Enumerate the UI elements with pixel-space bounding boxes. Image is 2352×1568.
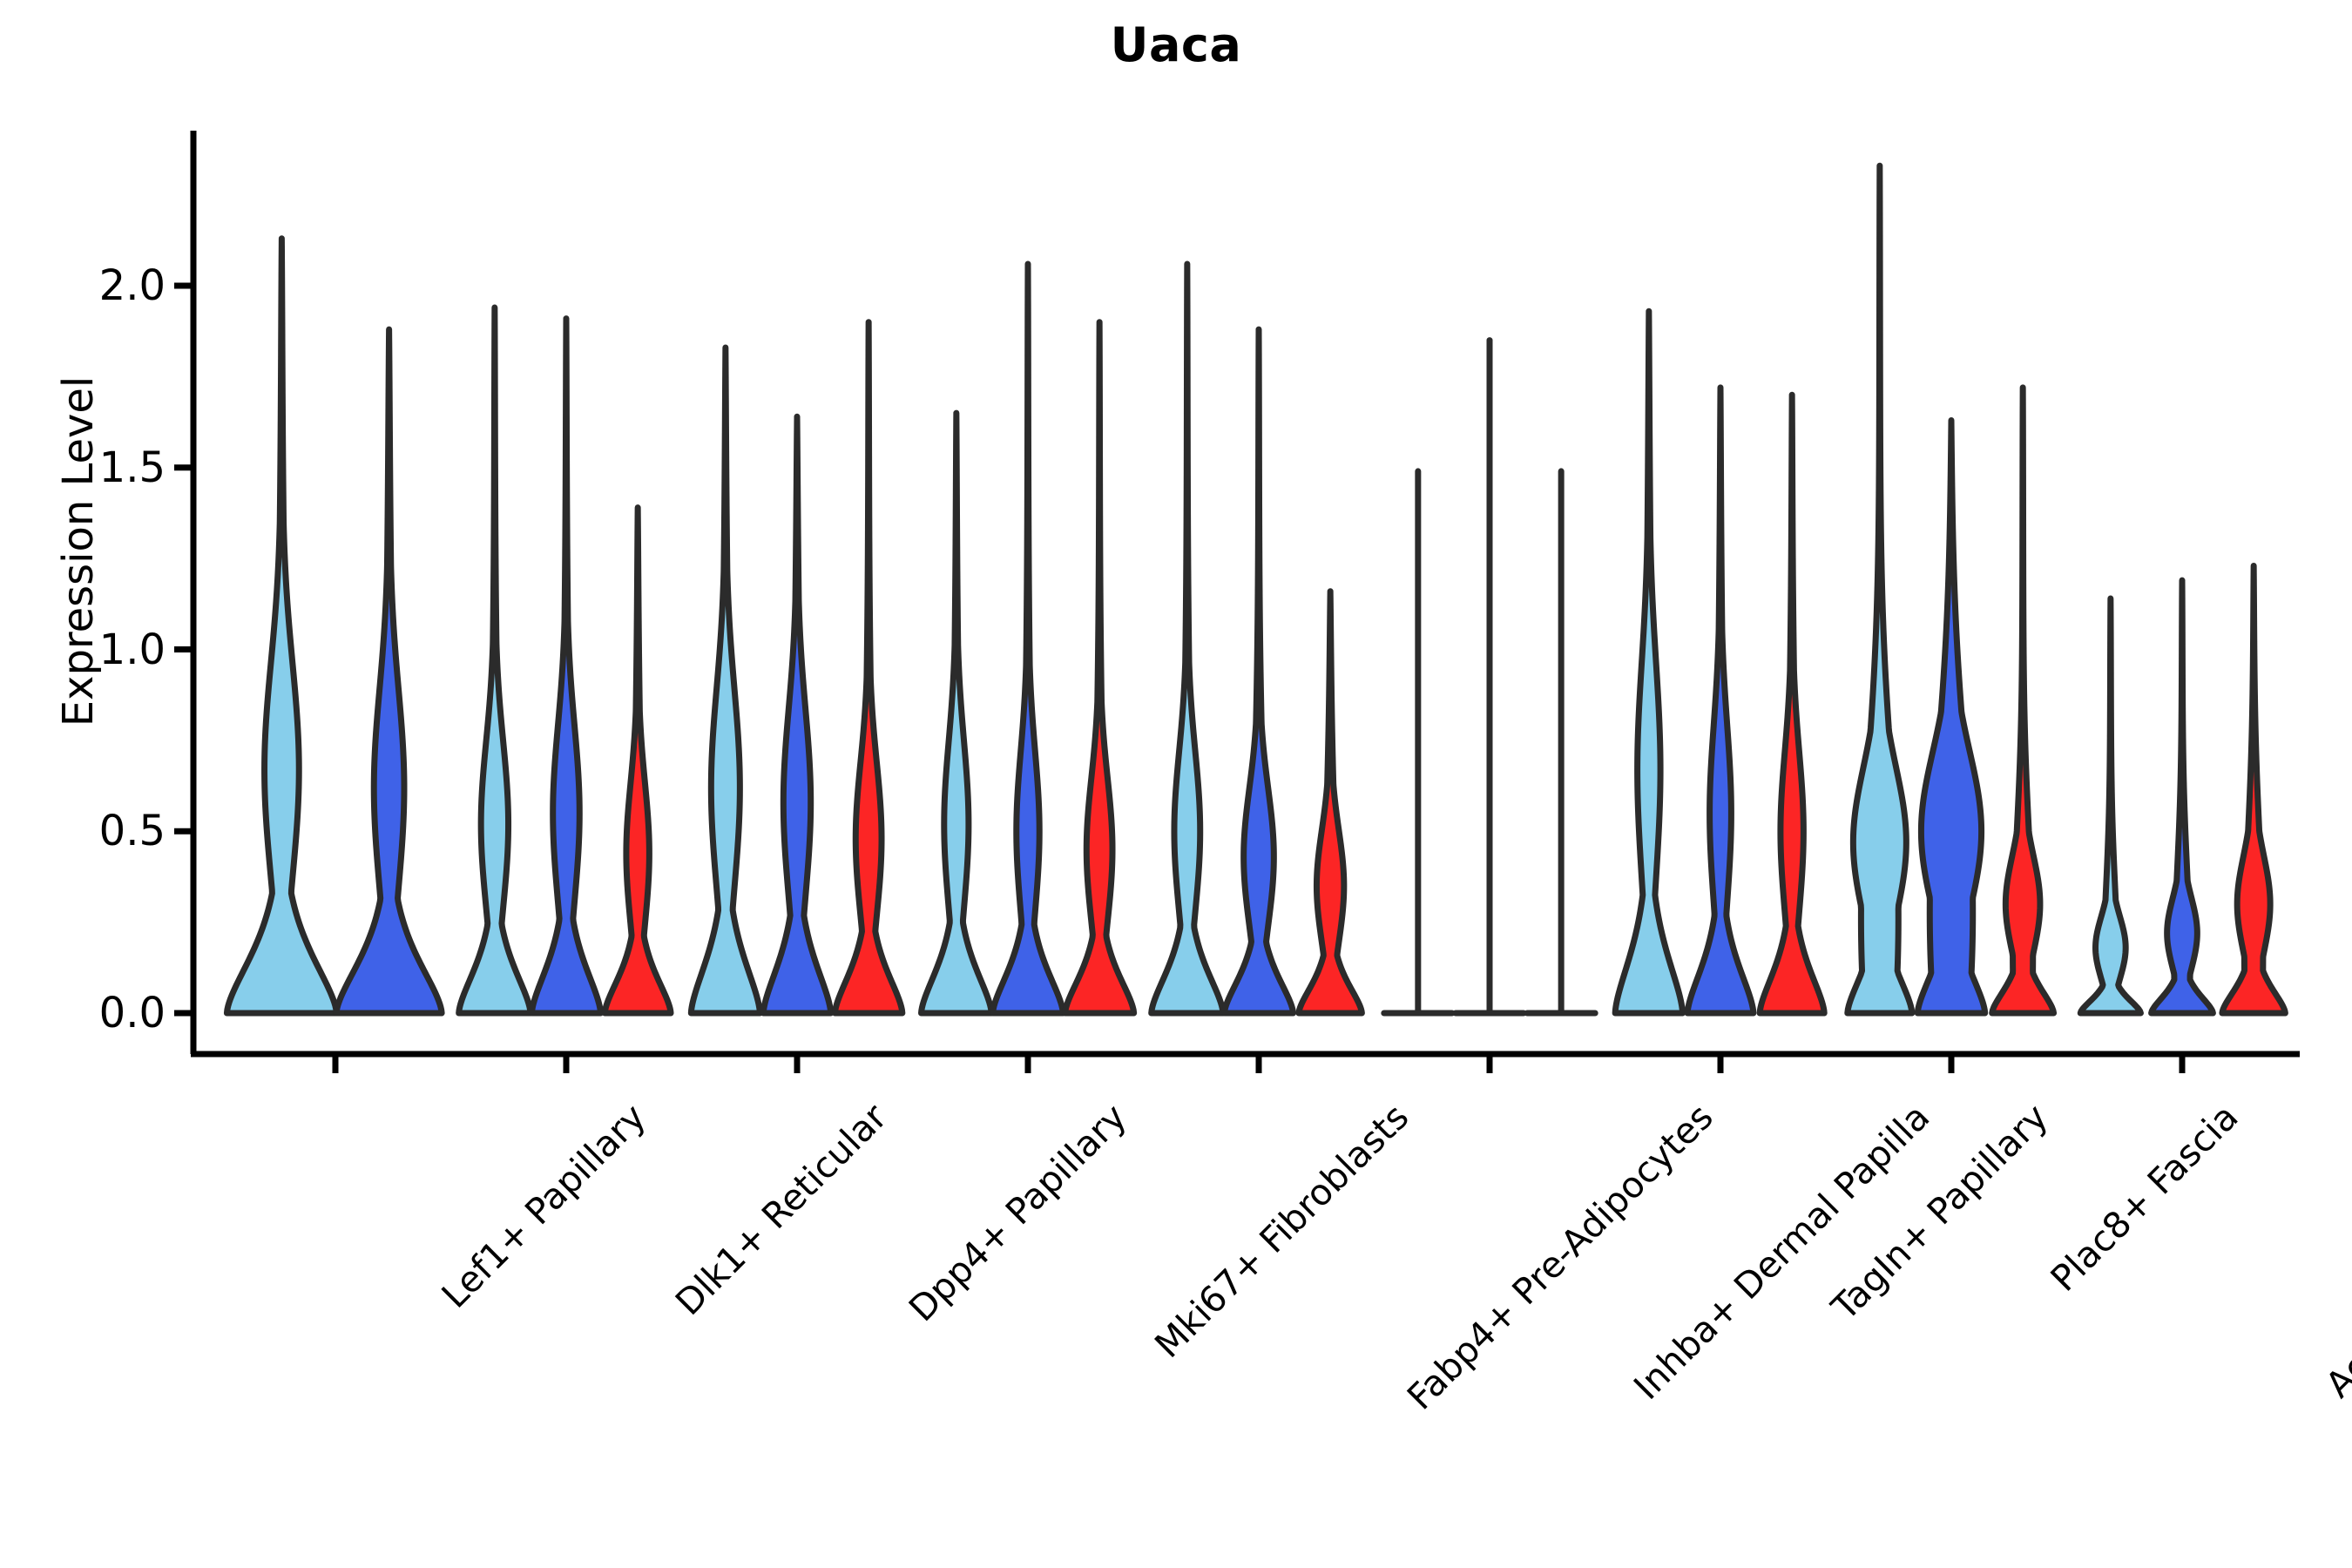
violin-group — [1848, 166, 2054, 1013]
violin-shape — [993, 264, 1064, 1013]
violin-group — [1152, 264, 1362, 1013]
violin-shape — [1917, 420, 1984, 1013]
violin-shape — [1687, 388, 1754, 1013]
violin-shape — [531, 319, 600, 1013]
violin-shape — [1224, 329, 1293, 1013]
violin-group — [226, 239, 442, 1013]
violin-group — [2080, 565, 2285, 1013]
violin-shape — [763, 416, 830, 1013]
violin-shape — [691, 348, 760, 1013]
violin-shape — [1848, 166, 1912, 1013]
violin-shape — [1760, 395, 1824, 1013]
violin-shape — [2080, 598, 2140, 1013]
violin-plot-figure: Uaca Expression Level 0.00.51.01.52.0 Le… — [0, 0, 2352, 1568]
violin-shape — [226, 239, 336, 1013]
violin-group — [1615, 311, 1824, 1013]
violin-group — [691, 322, 902, 1013]
violin-group — [1384, 341, 1595, 1013]
violin-shape — [2222, 565, 2285, 1013]
violin-shape — [2152, 580, 2213, 1013]
violin-shape — [1615, 311, 1682, 1013]
violin-shape — [336, 329, 442, 1013]
violin-shape — [835, 322, 902, 1013]
violin-shape — [1065, 322, 1134, 1013]
violin-shape — [1299, 591, 1362, 1013]
violin-shape — [1152, 264, 1223, 1013]
violin-shape — [922, 413, 992, 1013]
violin-shape — [459, 308, 531, 1013]
violin-shape — [605, 508, 671, 1013]
violin-group — [922, 264, 1134, 1013]
violin-group — [459, 308, 671, 1013]
violin-shape — [1992, 388, 2054, 1013]
